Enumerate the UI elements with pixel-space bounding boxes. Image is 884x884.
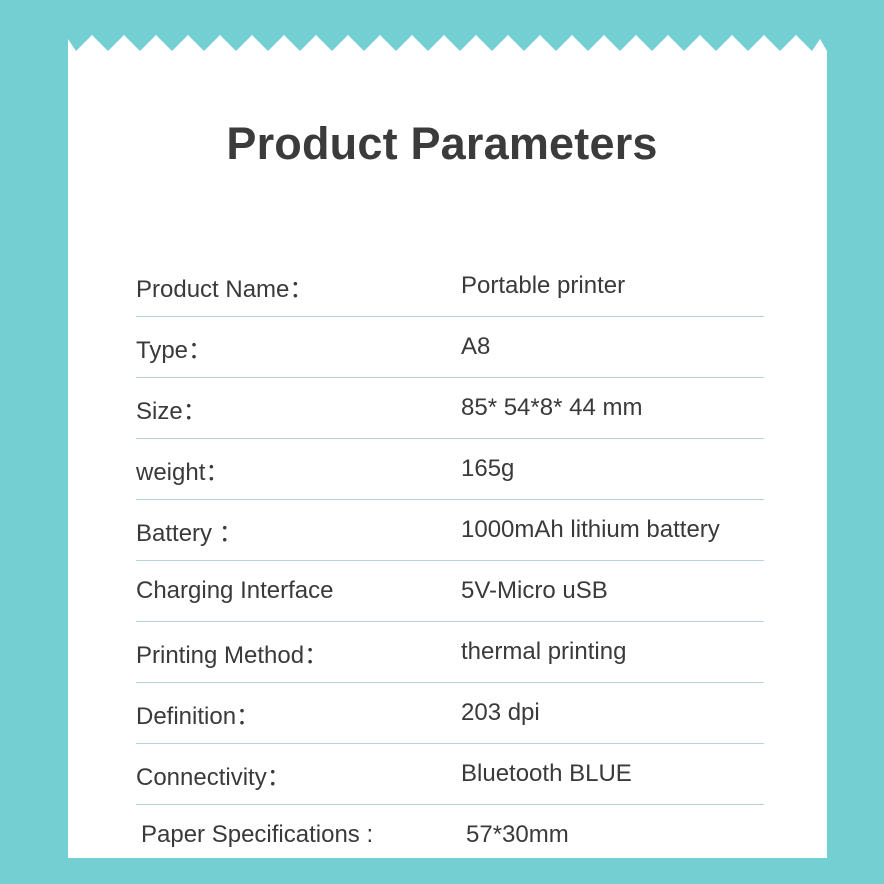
spec-label: Type： — [136, 330, 461, 365]
spec-value: 1000mAh lithium battery — [461, 516, 764, 544]
spec-label: Paper Specifications : — [136, 821, 466, 849]
table-row: Product Name： Portable printer — [136, 256, 764, 317]
spec-value: 85* 54*8* 44 mm — [461, 394, 764, 422]
spec-label: Battery ： — [136, 513, 461, 548]
table-row: Type： A8 — [136, 317, 764, 378]
table-row: Battery ： 1000mAh lithium battery — [136, 500, 764, 561]
spec-label: weight： — [136, 452, 461, 487]
spec-value: thermal printing — [461, 638, 764, 666]
spec-value: Portable printer — [461, 272, 764, 300]
spec-table: Product Name： Portable printer Type： A8 … — [136, 256, 764, 865]
table-row: Size： 85* 54*8* 44 mm — [136, 378, 764, 439]
spec-value: Bluetooth BLUE — [461, 760, 764, 788]
page-title: Product Parameters — [0, 118, 884, 170]
table-row: Connectivity： Bluetooth BLUE — [136, 744, 764, 805]
table-row: Charging Interface 5V-Micro uSB — [136, 561, 764, 622]
product-parameters-page: Product Parameters Product Name： Portabl… — [0, 0, 884, 884]
spec-value: 203 dpi — [461, 699, 764, 727]
table-row: weight： 165g — [136, 439, 764, 500]
spec-value: A8 — [461, 333, 764, 361]
spec-label: Connectivity： — [136, 757, 461, 792]
spec-label: Charging Interface — [136, 577, 461, 605]
spec-label: Printing Method： — [136, 635, 461, 670]
spec-value: 5V-Micro uSB — [461, 577, 764, 605]
spec-label: Size： — [136, 391, 461, 426]
zigzag-edge-icon — [68, 35, 827, 51]
spec-value: 57*30mm — [466, 821, 764, 849]
table-row: Definition： 203 dpi — [136, 683, 764, 744]
spec-value: 165g — [461, 455, 764, 483]
table-row: Paper Specifications : 57*30mm — [136, 805, 764, 865]
spec-label: Product Name： — [136, 269, 461, 304]
spec-label: Definition： — [136, 696, 461, 731]
table-row: Printing Method： thermal printing — [136, 622, 764, 683]
